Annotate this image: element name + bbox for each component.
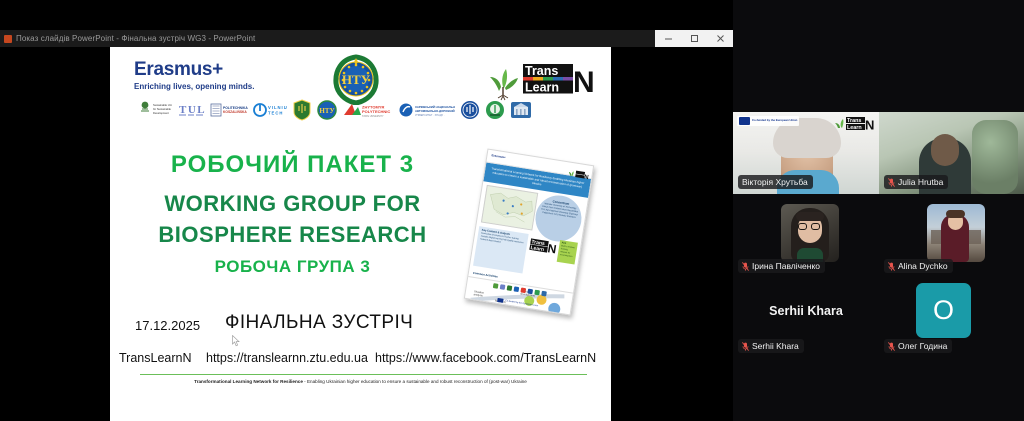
participant-name: Олег Година <box>898 341 947 351</box>
initial-avatar: О <box>916 283 971 338</box>
svg-text:VILNIUS: VILNIUS <box>268 105 287 110</box>
partner-logo <box>460 99 480 121</box>
svg-text:N: N <box>573 66 595 99</box>
participant-name-badge: Ірина Павліченко <box>738 259 825 273</box>
participant-name-badge: Олег Година <box>884 339 952 353</box>
svg-text:N: N <box>865 118 874 133</box>
participant-tile-iryna[interactable]: Ірина Павліченко <box>733 200 879 278</box>
slide-date: 17.12.2025 <box>135 318 200 333</box>
slide-links: TransLearnN https://translearnn.ztu.edu.… <box>110 351 611 369</box>
screen-root: Показ слайдів PowerPoint - Фінальна зуст… <box>0 0 1024 421</box>
participant-name-badge: Alina Dychko <box>884 259 953 273</box>
svg-text:АВТОМОБІЛЬНО-ДОРОЖНІЙ: АВТОМОБІЛЬНО-ДОРОЖНІЙ <box>415 109 455 113</box>
window-controls <box>655 30 733 47</box>
poster-map <box>481 184 538 230</box>
avatar <box>927 204 985 262</box>
tagline-bold: Transformational Learning Network for Re… <box>194 379 303 384</box>
poster-logo-large: Trans Learn N <box>529 236 561 256</box>
erasmus-logo: Erasmus+ Enriching lives, opening minds. <box>134 59 254 91</box>
divider <box>140 374 587 375</box>
partner-logo: TUL <box>177 99 205 121</box>
window-title: Показ слайдів PowerPoint - Фінальна зуст… <box>16 34 255 43</box>
partner-logo: Sustainable University for Sustainable D… <box>136 99 172 121</box>
svg-text:TECH: TECH <box>268 111 283 116</box>
participant-row: Ірина Павліченко <box>733 200 1024 278</box>
participant-name: Serhii Khara <box>752 341 799 351</box>
zoom-participants-panel: Co-funded by the European Union Trans Le… <box>733 0 1024 421</box>
mute-icon <box>888 342 895 351</box>
poster-key-box: Key Content & Outputs Curriculum develop… <box>473 226 529 273</box>
svg-text:НТУ: НТУ <box>319 107 334 115</box>
participant-name-badge: Serhii Khara <box>738 339 804 353</box>
svg-text:STATE UNIVERSITY: STATE UNIVERSITY <box>362 115 384 118</box>
mute-icon <box>742 262 749 271</box>
svg-text:POLYTECHNIC: POLYTECHNIC <box>362 109 390 114</box>
poster-aim-box: Aim Build a resilient learning network f… <box>557 240 578 265</box>
project-name: TransLearnN <box>119 351 192 365</box>
partner-logo <box>510 99 532 121</box>
slide-tagline: Transformational Learning Network for Re… <box>110 379 611 384</box>
avatar <box>781 204 839 262</box>
partner-logo <box>485 99 505 121</box>
participant-name: Ірина Павліченко <box>752 261 820 271</box>
svg-text:TUL: TUL <box>179 104 205 116</box>
svg-text:Learn: Learn <box>530 245 544 253</box>
slide-title-en-1: WORKING GROUP FOR <box>110 191 475 217</box>
svg-text:Trans: Trans <box>525 64 558 78</box>
svg-text:for Sustainable: for Sustainable <box>153 107 171 111</box>
translearnn-logo: Trans Learn N <box>487 57 595 101</box>
participant-name-badge: Julia Hrutba <box>884 175 948 189</box>
svg-text:УНІВЕРСИТЕТ · ХНАДУ ·: УНІВЕРСИТЕТ · ХНАДУ · <box>415 114 445 117</box>
participant-name: Alina Dychko <box>898 261 948 271</box>
partner-logo: ХАРКІВСЬКИЙ НАЦІОНАЛЬНИЙ АВТОМОБІЛЬНО-ДО… <box>399 99 455 121</box>
participant-display-name: Serhii Khara <box>733 304 879 318</box>
erasmus-name: Erasmus+ <box>134 59 254 81</box>
partner-logos-strip: Sustainable University for Sustainable D… <box>136 97 591 123</box>
eu-funding-badge: Co-funded by the European Union <box>737 116 799 126</box>
poster-translearnn-logo: N <box>569 165 590 177</box>
maximize-button[interactable] <box>681 30 707 47</box>
partner-logo <box>292 99 312 121</box>
participant-tile-julia[interactable]: Julia Hrutba <box>879 112 1024 194</box>
svg-text:Learn: Learn <box>525 81 559 95</box>
participant-tile-serhii[interactable]: Serhii Khara Serhii Khara <box>733 280 879 358</box>
eu-funding-text: Co-funded by the European Union <box>752 119 797 122</box>
poster-erasmus-label: Erasmus+ <box>491 153 506 159</box>
powerpoint-icon <box>4 35 12 43</box>
svg-text:НТУ: НТУ <box>342 72 371 87</box>
close-button[interactable] <box>707 30 733 47</box>
slide-title-uk-1: РОБОЧИЙ ПАКЕТ 3 <box>110 151 475 179</box>
poster-eu-badge: Co-funded by the European Union <box>497 298 538 308</box>
erasmus-tagline: Enriching lives, opening minds. <box>134 82 254 91</box>
mute-icon <box>888 178 895 187</box>
facebook-link[interactable]: https://www.facebook.com/TransLearnN <box>375 351 596 365</box>
partner-logo: ZHYTOMYR POLYTECHNIC STATE UNIVERSITY <box>342 99 394 121</box>
svg-text:Sustainable University: Sustainable University <box>153 103 172 107</box>
poster-thumbnail: Erasmus+ N <box>467 152 602 317</box>
svg-text:Trans: Trans <box>847 118 861 124</box>
participant-row: Co-funded by the European Union Trans Le… <box>733 112 1024 194</box>
website-link[interactable]: https://translearnn.ztu.edu.ua <box>206 351 368 365</box>
slide-title-en-2: BIOSPHERE RESEARCH <box>110 222 475 248</box>
slide-stage: Erasmus+ Enriching lives, opening minds. <box>0 47 733 421</box>
slide-title-uk-2: РОБОЧА ГРУПА 3 <box>110 257 475 277</box>
mute-icon <box>742 342 749 351</box>
mouse-cursor <box>232 334 240 346</box>
poster-eu-text: Co-funded by the European Union <box>505 300 538 307</box>
poster-aim-items: Build a resilient learning network for r… <box>558 244 578 259</box>
powerpoint-window: Показ слайдів PowerPoint - Фінальна зуст… <box>0 30 733 421</box>
minimize-button[interactable] <box>655 30 681 47</box>
partner-logo: VILNIUS TECH <box>253 99 287 121</box>
participant-tile-oleh[interactable]: О Олег Година <box>879 280 1024 358</box>
participant-name-badge: Вікторія Хрутьба <box>738 175 813 189</box>
presentation-slide[interactable]: Erasmus+ Enriching lives, opening minds. <box>110 47 611 421</box>
participant-name: Вікторія Хрутьба <box>742 177 808 187</box>
participant-tile-viktoriia[interactable]: Co-funded by the European Union Trans Le… <box>733 112 879 194</box>
window-titlebar[interactable]: Показ слайдів PowerPoint - Фінальна зуст… <box>0 30 733 47</box>
meeting-title: ФІНАЛЬНА ЗУСТРІЧ <box>225 312 413 334</box>
partner-logo: НТУ <box>317 99 337 121</box>
svg-text:N: N <box>547 241 558 256</box>
translearnn-overlay-logo: Trans Learn N <box>835 116 875 132</box>
svg-text:Development: Development <box>153 111 169 115</box>
svg-text:KOSZALIŃSKA: KOSZALIŃSKA <box>223 109 247 114</box>
participant-tile-alina[interactable]: Alina Dychko <box>879 200 1024 278</box>
partner-logo: POLITECHNIKA KOSZALIŃSKA <box>210 99 248 121</box>
participant-name: Julia Hrutba <box>898 177 943 187</box>
svg-text:Learn: Learn <box>847 125 862 131</box>
eu-flag-icon <box>739 117 750 125</box>
participant-row: Serhii Khara Serhii Khara О <box>733 280 1024 358</box>
tagline-rest: - Enabling Ukrainian higher education to… <box>303 379 527 384</box>
mute-icon <box>888 262 895 271</box>
